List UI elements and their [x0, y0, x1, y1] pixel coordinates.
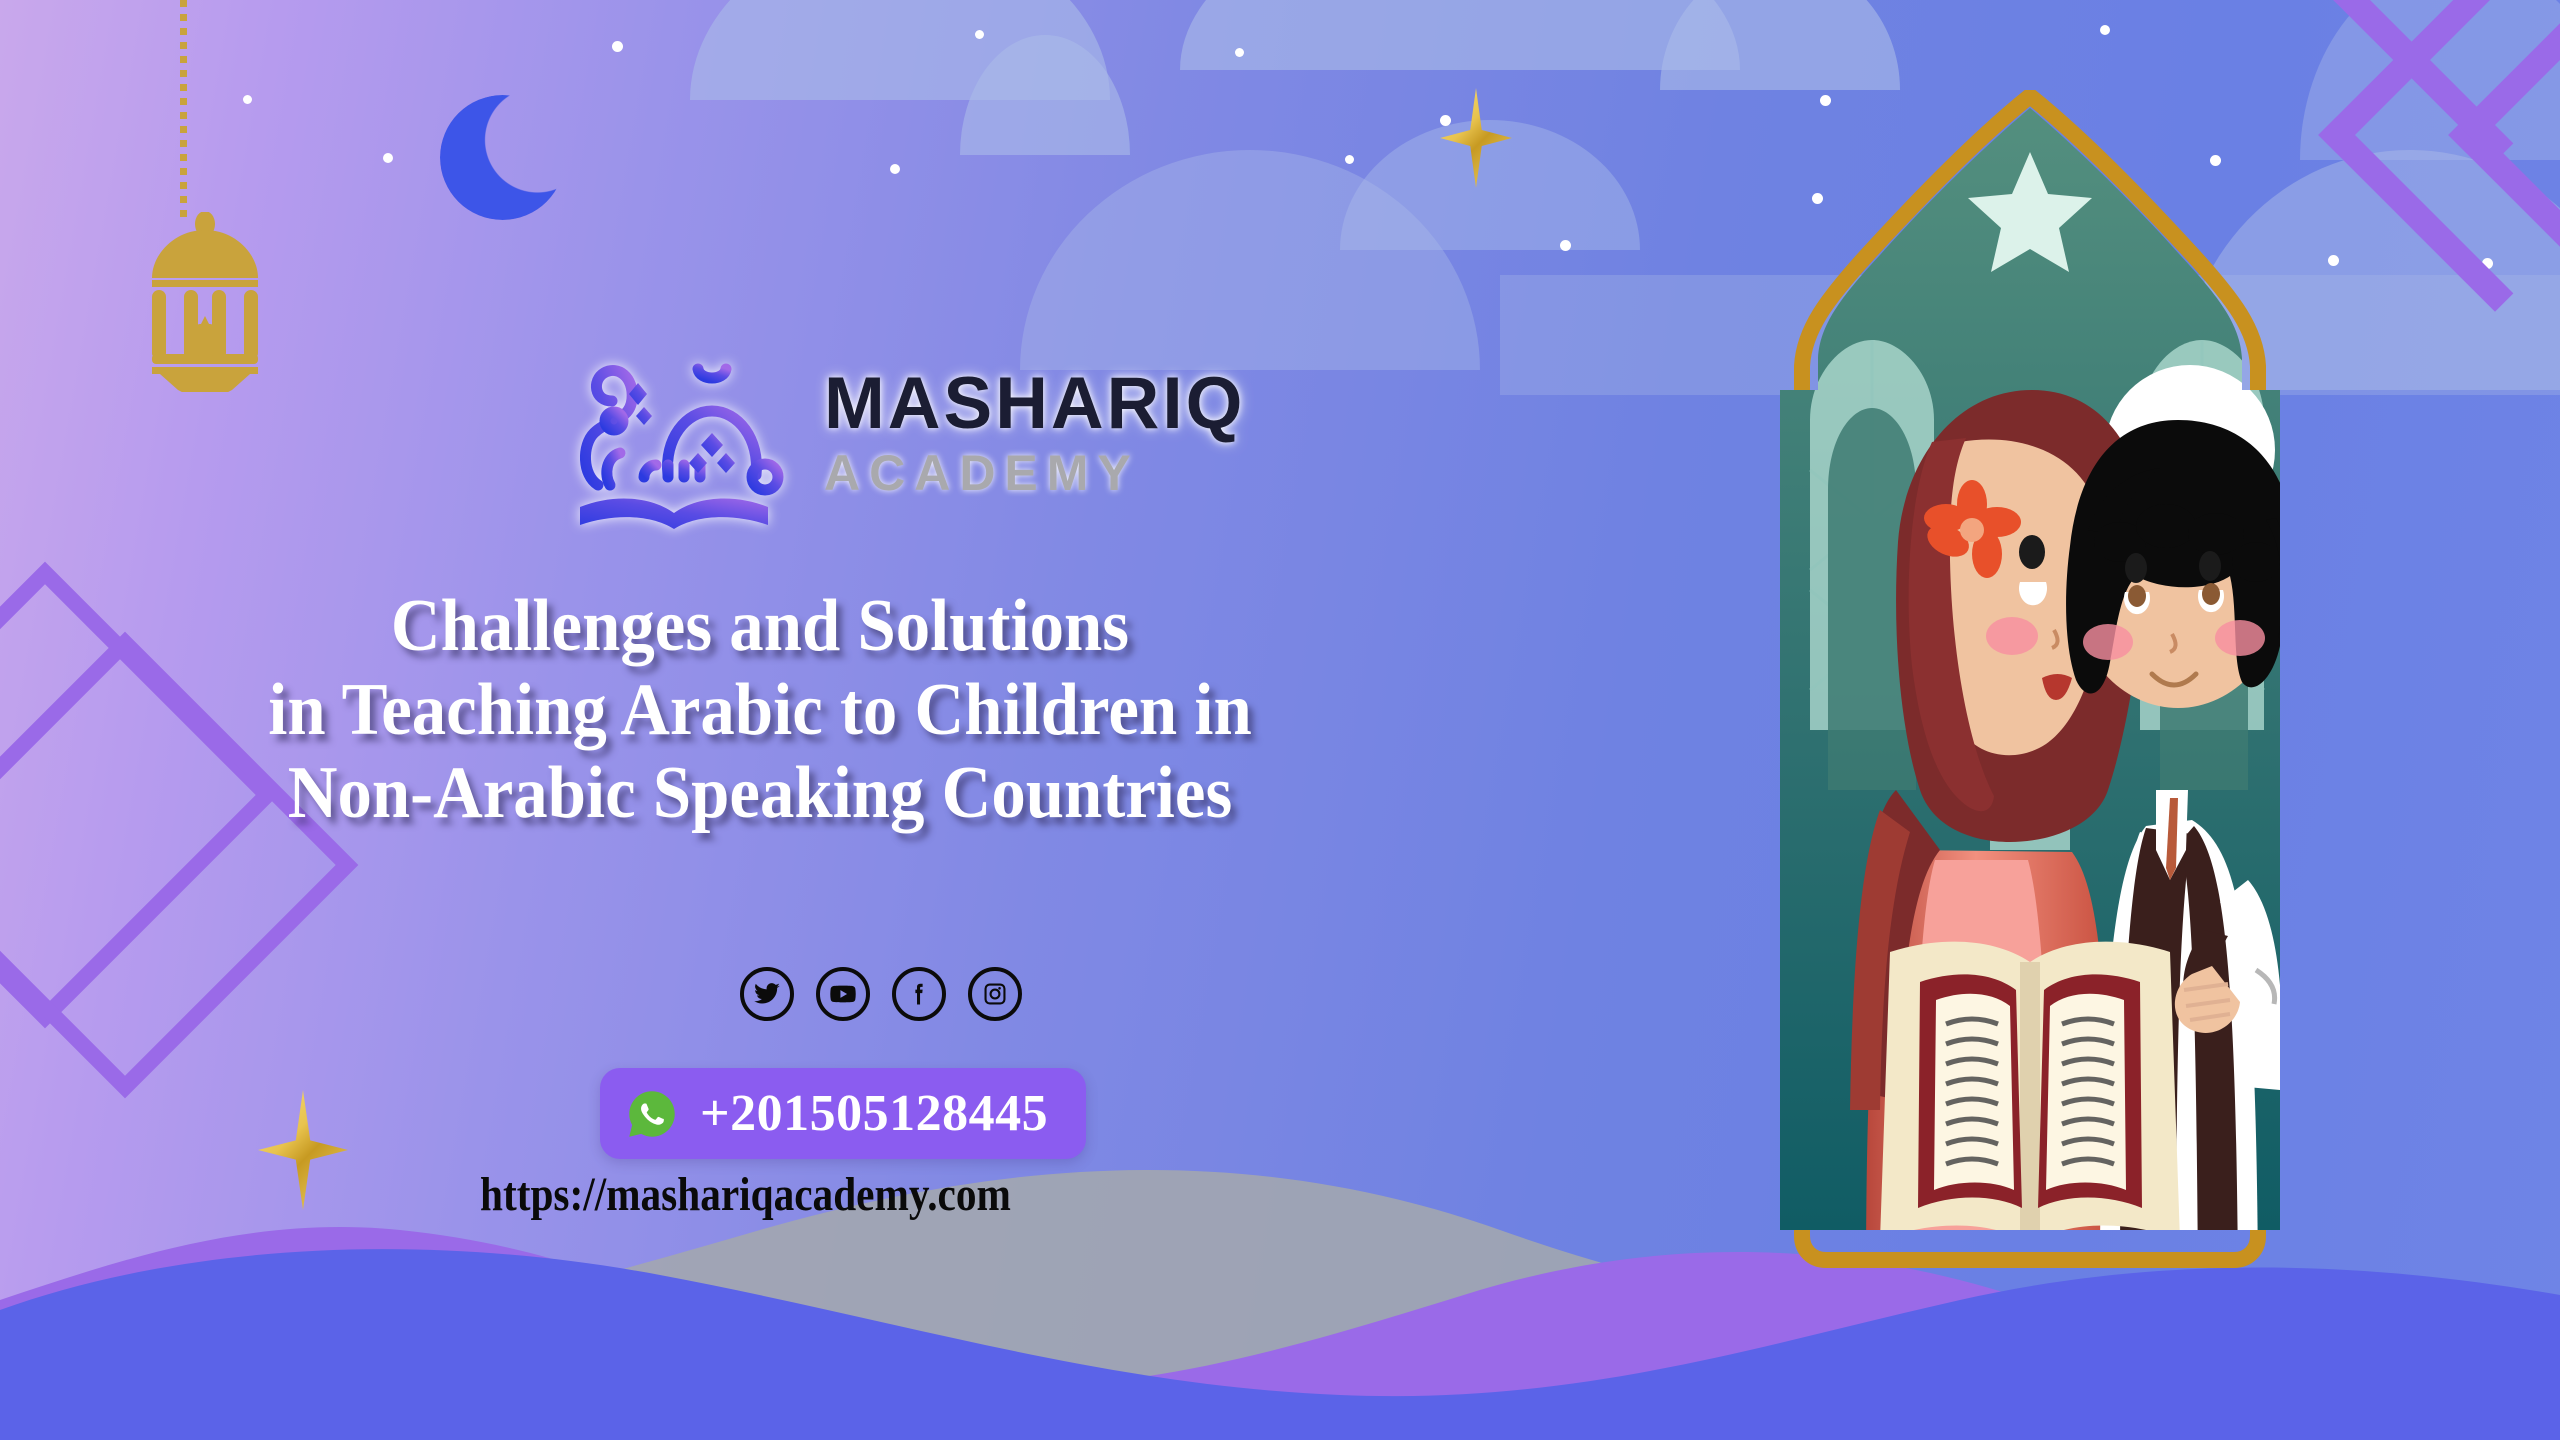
social-instagram-icon[interactable] [968, 967, 1022, 1021]
social-youtube-icon[interactable] [816, 967, 870, 1021]
open-book [1880, 942, 2180, 1244]
content-column: MASHARIQ ACADEMY Challenges and Solution… [0, 0, 1560, 1440]
page-title: Challenges and Solutions in Teaching Ara… [53, 585, 1467, 836]
phone-number: +201505128445 [700, 1084, 1048, 1143]
brand-logo: MASHARIQ ACADEMY [560, 325, 1245, 540]
brand-wordmark: MASHARIQ ACADEMY [824, 367, 1245, 498]
brand-subtitle: ACADEMY [824, 448, 1245, 498]
illustration-svg [1580, 90, 2480, 1280]
arch-interior [1760, 90, 2300, 1280]
mashariq-logo-icon [560, 325, 790, 540]
social-facebook-icon[interactable] [892, 967, 946, 1021]
headline-line-3: Non-Arabic Speaking Countries [53, 752, 1467, 836]
social-links [740, 967, 1022, 1021]
illustration-children-reading [1580, 90, 2480, 1280]
website-url[interactable]: https://mashariqacademy.com [480, 1167, 1011, 1222]
headline-line-2: in Teaching Arabic to Children in [53, 669, 1467, 753]
cloud-shape [1660, 0, 1900, 90]
whatsapp-icon [626, 1088, 678, 1140]
whatsapp-contact-button[interactable]: +201505128445 [600, 1068, 1086, 1159]
headline-line-1: Challenges and Solutions [53, 585, 1467, 669]
social-twitter-icon[interactable] [740, 967, 794, 1021]
brand-name: MASHARIQ [824, 367, 1245, 440]
star-dot [2100, 25, 2110, 35]
star-dot [1560, 240, 1571, 251]
poster-canvas: MASHARIQ ACADEMY Challenges and Solution… [0, 0, 2560, 1440]
